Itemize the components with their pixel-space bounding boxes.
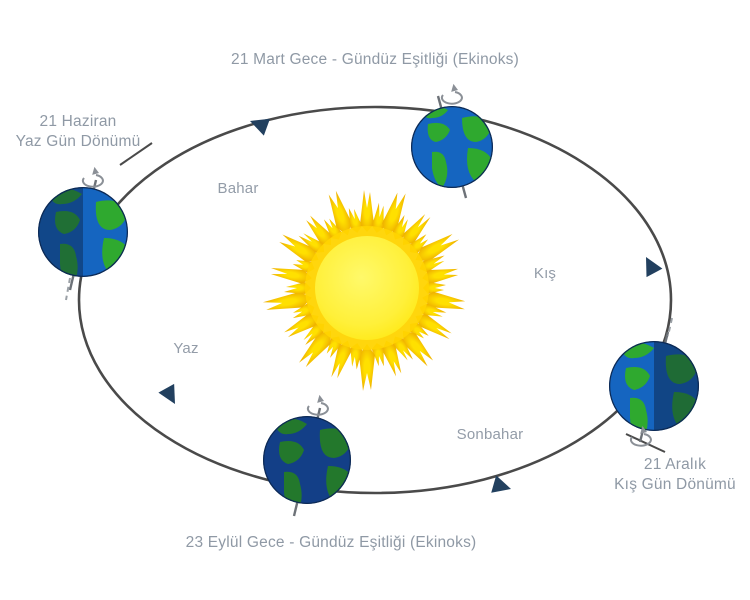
seasons-diagram: 21 Mart Gece - Gündüz Eşitliği (Ekinoks)… (0, 0, 750, 600)
label-december-solstice-line1: 21 Aralık (644, 456, 706, 473)
earth-december-solstice (609, 318, 700, 446)
orbit-arrow-right (638, 253, 662, 277)
label-march-equinox: 21 Mart Gece - Gündüz Eşitliği (Ekinoks) (231, 50, 519, 70)
diagram-canvas (0, 0, 750, 600)
label-september-equinox: 23 Eylül Gece - Gündüz Eşitliği (Ekinoks… (186, 533, 477, 553)
orbit-arrow-bottom-left (158, 384, 182, 408)
label-season-summer: Yaz (173, 339, 198, 359)
earth-june-solstice (38, 167, 130, 300)
label-season-winter: Kış (534, 264, 556, 284)
earth-rotation-arrow-june (83, 175, 103, 187)
label-season-autumn: Sonbahar (457, 425, 524, 445)
sun-core (315, 236, 419, 340)
label-december-solstice: 21 Aralık Kış Gün Dönümü (614, 455, 736, 495)
earth-september-equinox (263, 395, 354, 516)
earth-rotation-arrow-march (442, 92, 462, 104)
label-september-equinox-line1: 23 Eylül Gece - Gündüz Eşitliği (Ekinoks… (186, 534, 477, 551)
label-june-solstice: 21 Haziran Yaz Gün Dönümü (16, 112, 141, 152)
label-december-solstice-line2: Kış Gün Dönümü (614, 475, 736, 495)
label-june-solstice-line2: Yaz Gün Dönümü (16, 132, 141, 152)
orbit-arrow-bottom-right (491, 475, 513, 497)
label-march-equinox-line1: 21 Mart Gece - Gündüz Eşitliği (Ekinoks) (231, 51, 519, 68)
earth-march-equinox (411, 84, 495, 198)
sun-icon (262, 189, 467, 391)
label-season-spring: Bahar (217, 179, 258, 199)
label-june-solstice-line1: 21 Haziran (40, 113, 117, 130)
